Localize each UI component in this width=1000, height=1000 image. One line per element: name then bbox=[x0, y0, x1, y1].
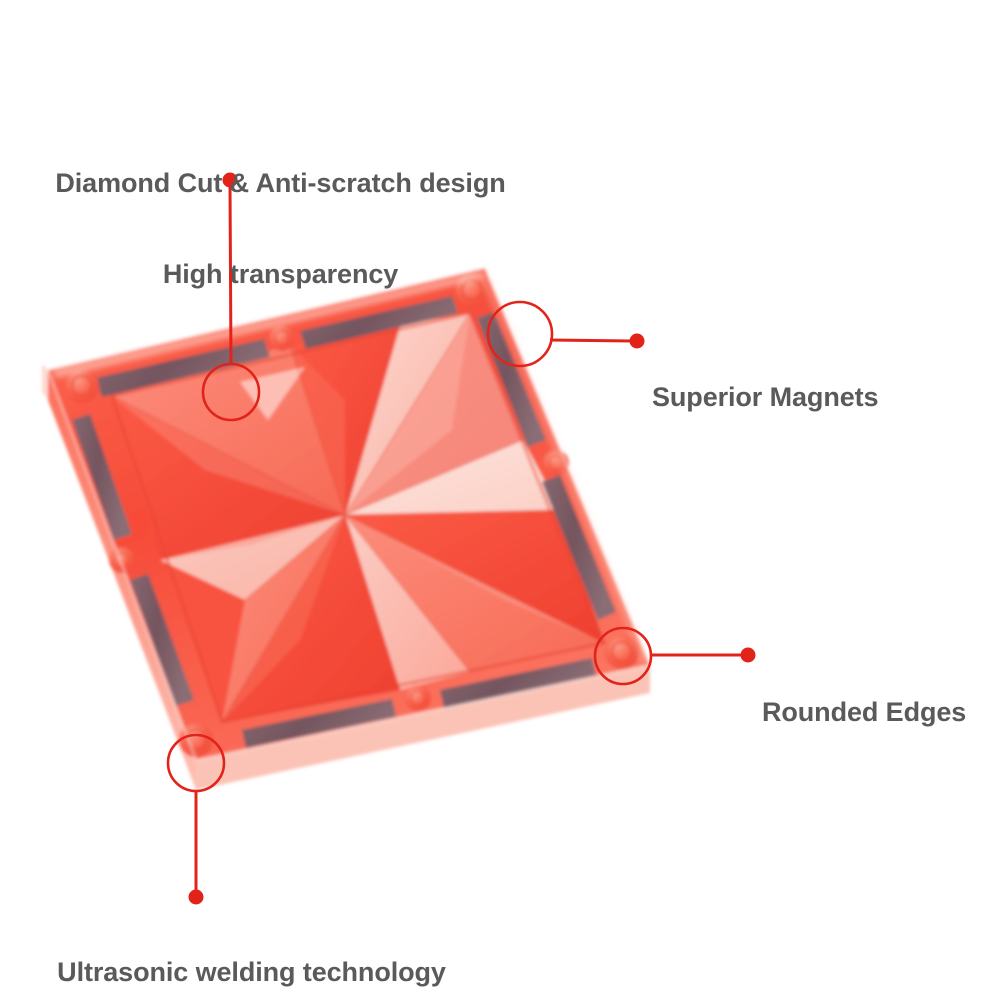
callout-label-ultrasonic-welding: Ultrasonic welding technology Safer and … bbox=[18, 897, 485, 1000]
callout-dot bbox=[741, 648, 756, 663]
callout-label-line: Rounded Edges bbox=[762, 697, 966, 727]
callout-leader-line bbox=[550, 340, 632, 341]
mid-edge-post bbox=[405, 685, 431, 711]
callout-label-diamond-cut: Diamond Cut & Anti-scratch design High t… bbox=[28, 108, 533, 350]
callout-label-superior-magnets: Superior Magnets bbox=[652, 322, 878, 473]
callout-dot bbox=[630, 334, 645, 349]
callout-label-line: Superior Magnets bbox=[652, 382, 878, 412]
product-feature-callout-image: Diamond Cut & Anti-scratch design High t… bbox=[0, 0, 1000, 1000]
callout-label-line: High transparency bbox=[28, 259, 533, 289]
callout-label-rounded-edges: Rounded Edges bbox=[762, 637, 966, 788]
callout-label-line: Ultrasonic welding technology bbox=[18, 957, 485, 987]
callout-label-line: Diamond Cut & Anti-scratch design bbox=[28, 168, 533, 198]
